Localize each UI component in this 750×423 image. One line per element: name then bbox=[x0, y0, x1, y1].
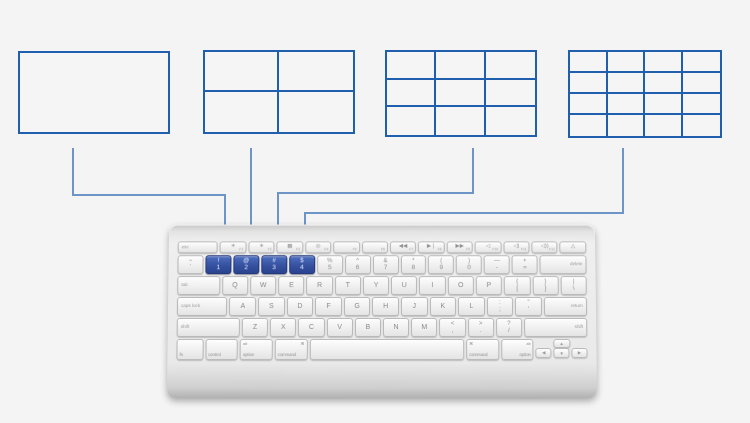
key-5-shift-label: % bbox=[327, 258, 332, 264]
key-1[interactable]: ! 1 bbox=[205, 255, 231, 274]
grid-cell bbox=[683, 94, 721, 115]
key-6-shift-label: ^ bbox=[356, 258, 359, 264]
brightness-up-icon: ☀ bbox=[259, 245, 264, 250]
key-period[interactable]: > . bbox=[468, 318, 494, 337]
key-delete[interactable]: delete bbox=[540, 255, 587, 274]
key-6[interactable]: ^ 6 bbox=[345, 255, 371, 274]
grid-cell bbox=[486, 52, 535, 80]
key-minus-label: - bbox=[496, 265, 498, 271]
key-v[interactable]: V bbox=[327, 318, 353, 337]
arrow-right-icon: ▶ bbox=[578, 350, 582, 356]
grid-cell bbox=[279, 92, 353, 132]
key-arrow-right[interactable]: ▶ bbox=[572, 348, 588, 358]
key-eject[interactable]: △ bbox=[560, 241, 586, 253]
key-caps-lock-label: caps lock bbox=[181, 304, 200, 309]
key-6-label: 6 bbox=[356, 265, 360, 271]
key-f1[interactable]: ☀ F1 bbox=[220, 241, 246, 253]
key-caps-lock[interactable]: caps lock bbox=[177, 297, 228, 316]
key-5-label: 5 bbox=[328, 265, 332, 271]
mission-control-icon: ▦ bbox=[287, 245, 292, 250]
key-equals-label: = bbox=[523, 265, 527, 271]
key-shift-right[interactable]: shift bbox=[524, 318, 587, 337]
key-c[interactable]: C bbox=[298, 318, 324, 337]
key-f5-label: F5 bbox=[353, 248, 357, 251]
key-j[interactable]: J bbox=[401, 297, 428, 316]
grid-cell bbox=[683, 115, 721, 136]
key-f6[interactable]: F6 bbox=[362, 241, 388, 253]
key-7-shift-label: & bbox=[384, 258, 388, 264]
key-equals[interactable]: + = bbox=[512, 255, 538, 274]
key-g[interactable]: G bbox=[344, 297, 371, 316]
key-return-label: return bbox=[571, 304, 583, 309]
keyboard-function-row: esc ☀ F1 ☀ F2 ▦ F3 ◎ F4 bbox=[178, 241, 587, 253]
key-q[interactable]: Q bbox=[222, 276, 248, 295]
key-bracket-left[interactable]: { [ bbox=[504, 276, 530, 295]
key-minus-shift-label: — bbox=[494, 258, 500, 264]
grid-cell bbox=[486, 80, 535, 108]
key-f8-label: F8 bbox=[438, 248, 442, 251]
key-y[interactable]: Y bbox=[363, 276, 389, 295]
key-4-label: 4 bbox=[300, 265, 304, 271]
brightness-down-icon: ☀ bbox=[231, 245, 236, 250]
key-1-shift-label: ! bbox=[218, 258, 220, 264]
key-backslash[interactable]: | \ bbox=[560, 276, 586, 295]
grid-cell bbox=[645, 94, 683, 115]
key-option-right[interactable]: alt option bbox=[501, 339, 534, 360]
key-8-shift-label: * bbox=[412, 258, 414, 264]
key-7-label: 7 bbox=[384, 265, 388, 271]
key-t[interactable]: T bbox=[335, 276, 361, 295]
key-option-right-alt-label: alt bbox=[526, 342, 530, 346]
key-2-shift-label: @ bbox=[243, 258, 249, 264]
key-f11-label: F11 bbox=[521, 248, 527, 251]
key-space[interactable] bbox=[309, 339, 464, 360]
key-arrow-up[interactable]: ▲ bbox=[553, 339, 570, 348]
key-equals-shift-label: + bbox=[523, 258, 527, 264]
key-2[interactable]: @ 2 bbox=[233, 255, 259, 274]
key-tab[interactable]: tab bbox=[177, 276, 220, 295]
diagram-canvas: esc ☀ F1 ☀ F2 ▦ F3 ◎ F4 bbox=[0, 0, 750, 423]
key-x[interactable]: X bbox=[270, 318, 296, 337]
key-f10-label: F10 bbox=[492, 248, 498, 251]
key-o[interactable]: O bbox=[448, 276, 474, 295]
key-f9[interactable]: ▶▶ F9 bbox=[447, 241, 473, 253]
layout-diagram-2x2 bbox=[203, 50, 355, 134]
key-b[interactable]: B bbox=[355, 318, 381, 337]
key-backtick-label: ` bbox=[189, 265, 191, 271]
key-w[interactable]: W bbox=[250, 276, 276, 295]
key-arrow-down[interactable]: ▼ bbox=[554, 348, 570, 358]
key-f8[interactable]: ▶❘ F8 bbox=[418, 241, 444, 253]
key-3-shift-label: # bbox=[272, 258, 275, 264]
grid-cell bbox=[279, 52, 353, 92]
key-9-label: 9 bbox=[439, 265, 443, 271]
key-f10[interactable]: ◁ F10 bbox=[475, 241, 501, 253]
key-shift-left[interactable]: shift bbox=[177, 318, 240, 337]
play-pause-icon: ▶❘ bbox=[427, 245, 436, 250]
grid-cell bbox=[608, 94, 646, 115]
key-f3[interactable]: ▦ F3 bbox=[277, 241, 303, 253]
key-0-shift-label: ) bbox=[468, 258, 470, 264]
key-control[interactable]: control bbox=[205, 339, 238, 360]
keyboard-home-row: caps lock A S D F G H J K L : ; bbox=[177, 297, 587, 316]
keyboard-bottom-row: fn control alt option ⌘ command ⌘ bbox=[176, 339, 587, 360]
key-u[interactable]: U bbox=[391, 276, 417, 295]
key-tab-label: tab bbox=[181, 283, 187, 288]
key-semicolon[interactable]: : ; bbox=[487, 297, 514, 316]
grid-cell bbox=[608, 73, 646, 94]
key-f[interactable]: F bbox=[315, 297, 342, 316]
key-f3-label: F3 bbox=[296, 248, 300, 251]
key-f5[interactable]: F5 bbox=[333, 241, 359, 253]
key-z[interactable]: Z bbox=[242, 318, 268, 337]
grid-cell bbox=[436, 107, 485, 135]
arrow-up-icon: ▲ bbox=[559, 341, 564, 346]
key-command-left[interactable]: ⌘ command bbox=[275, 339, 308, 360]
key-h[interactable]: H bbox=[372, 297, 399, 316]
key-9-shift-label: ( bbox=[440, 258, 442, 264]
grid-cell bbox=[486, 107, 535, 135]
key-3[interactable]: # 3 bbox=[261, 255, 287, 274]
key-f4-label: F4 bbox=[324, 248, 328, 251]
key-f1-label: F1 bbox=[239, 248, 243, 251]
key-f2-label: F2 bbox=[268, 248, 272, 251]
grid-cell bbox=[20, 53, 168, 132]
grid-cell bbox=[436, 52, 485, 80]
key-7[interactable]: & 7 bbox=[373, 255, 399, 274]
keyboard-shift-row: shift Z X C V B N M < , > . bbox=[177, 318, 588, 337]
key-comma[interactable]: < , bbox=[439, 318, 465, 337]
key-m[interactable]: M bbox=[411, 318, 437, 337]
key-option-right-label: option bbox=[519, 353, 530, 357]
mute-icon: ◁ bbox=[486, 245, 490, 250]
key-f7-label: F7 bbox=[409, 248, 413, 251]
apple-wireless-keyboard[interactable]: esc ☀ F1 ☀ F2 ▦ F3 ◎ F4 bbox=[167, 225, 597, 399]
key-command-right[interactable]: ⌘ command bbox=[466, 339, 499, 360]
key-option-left-alt-label: alt bbox=[243, 342, 247, 346]
keyboard-number-row: ~ ` ! 1 @ 2 bbox=[177, 255, 586, 274]
key-esc[interactable]: esc bbox=[178, 241, 218, 253]
key-s[interactable]: S bbox=[258, 297, 285, 316]
key-command-right-label: command bbox=[469, 353, 487, 357]
rewind-icon: ◀◀ bbox=[399, 245, 407, 250]
key-return[interactable]: return bbox=[544, 297, 587, 316]
key-0[interactable]: ) 0 bbox=[456, 255, 482, 274]
fast-forward-icon: ▶▶ bbox=[455, 245, 463, 250]
key-quote[interactable]: " ' bbox=[515, 297, 542, 316]
arrow-left-icon: ◀ bbox=[542, 350, 546, 356]
eject-icon: △ bbox=[571, 245, 575, 250]
key-f11[interactable]: ◁) F11 bbox=[503, 241, 529, 253]
grid-cell bbox=[205, 52, 279, 92]
key-shift-left-label: shift bbox=[181, 325, 189, 330]
grid-cell bbox=[645, 73, 683, 94]
key-8-label: 8 bbox=[412, 265, 416, 271]
grid-cell bbox=[645, 115, 683, 136]
grid-cell bbox=[387, 80, 436, 108]
layout-diagram-1x1 bbox=[18, 51, 170, 134]
key-f12-label: F12 bbox=[549, 248, 555, 251]
key-command-left-label: command bbox=[278, 353, 296, 357]
grid-cell bbox=[645, 52, 683, 73]
grid-cell bbox=[570, 52, 608, 73]
key-option-left[interactable]: alt option bbox=[240, 339, 273, 360]
grid-cell bbox=[387, 52, 436, 80]
key-bracket-right[interactable]: } ] bbox=[532, 276, 558, 295]
key-4-shift-label: $ bbox=[300, 258, 303, 264]
key-f12[interactable]: ◁)) F12 bbox=[531, 241, 557, 253]
key-i[interactable]: I bbox=[419, 276, 445, 295]
layout-diagram-4x4 bbox=[568, 50, 722, 138]
volume-up-icon: ◁)) bbox=[541, 245, 549, 250]
grid-cell bbox=[683, 73, 721, 94]
grid-cell bbox=[683, 52, 721, 73]
key-delete-label: delete bbox=[570, 262, 583, 267]
key-minus[interactable]: — - bbox=[484, 255, 510, 274]
grid-cell bbox=[608, 52, 646, 73]
key-8[interactable]: * 8 bbox=[400, 255, 426, 274]
grid-cell bbox=[570, 73, 608, 94]
key-f4[interactable]: ◎ F4 bbox=[305, 241, 331, 253]
key-control-label: control bbox=[208, 353, 221, 357]
grid-cell bbox=[570, 94, 608, 115]
key-l[interactable]: L bbox=[458, 297, 485, 316]
key-5[interactable]: % 5 bbox=[317, 255, 343, 274]
grid-cell bbox=[205, 92, 279, 132]
key-backtick-shift-label: ~ bbox=[189, 258, 193, 264]
key-k[interactable]: K bbox=[429, 297, 456, 316]
key-a[interactable]: A bbox=[229, 297, 256, 316]
key-4[interactable]: $ 4 bbox=[289, 255, 315, 274]
key-3-label: 3 bbox=[272, 265, 276, 271]
grid-cell bbox=[387, 107, 436, 135]
launchpad-icon: ◎ bbox=[316, 245, 321, 250]
key-e[interactable]: E bbox=[278, 276, 304, 295]
key-f2[interactable]: ☀ F2 bbox=[248, 241, 274, 253]
key-n[interactable]: N bbox=[383, 318, 409, 337]
volume-down-icon: ◁) bbox=[513, 245, 519, 250]
key-arrow-left[interactable]: ◀ bbox=[536, 348, 552, 358]
keyboard-qwerty-row: tab Q W E R T Y U I O P { [ bbox=[177, 276, 587, 295]
layout-diagram-3x3 bbox=[385, 50, 537, 137]
command-icon: ⌘ bbox=[469, 342, 473, 346]
grid-cell bbox=[436, 80, 485, 108]
key-fn[interactable]: fn bbox=[176, 339, 203, 360]
key-0-label: 0 bbox=[467, 265, 471, 271]
key-2-label: 2 bbox=[244, 265, 248, 271]
key-d[interactable]: D bbox=[287, 297, 314, 316]
arrow-down-icon: ▼ bbox=[559, 351, 564, 356]
key-shift-right-label: shift bbox=[575, 325, 583, 330]
grid-cell bbox=[570, 115, 608, 136]
key-fn-label: fn bbox=[179, 353, 183, 357]
command-icon: ⌘ bbox=[301, 342, 305, 346]
arrow-key-pad: ▲ ◀ ▼ ▶ bbox=[536, 339, 588, 360]
key-backtick[interactable]: ~ ` bbox=[177, 255, 203, 274]
key-option-left-label: option bbox=[243, 353, 254, 357]
key-9[interactable]: ( 9 bbox=[428, 255, 454, 274]
key-f9-label: F9 bbox=[466, 248, 470, 251]
key-f6-label: F6 bbox=[381, 248, 385, 251]
key-r[interactable]: R bbox=[306, 276, 332, 295]
grid-cell bbox=[608, 115, 646, 136]
key-slash[interactable]: ? / bbox=[496, 318, 522, 337]
key-1-label: 1 bbox=[216, 265, 220, 271]
key-f7[interactable]: ◀◀ F7 bbox=[390, 241, 416, 253]
key-p[interactable]: P bbox=[476, 276, 502, 295]
